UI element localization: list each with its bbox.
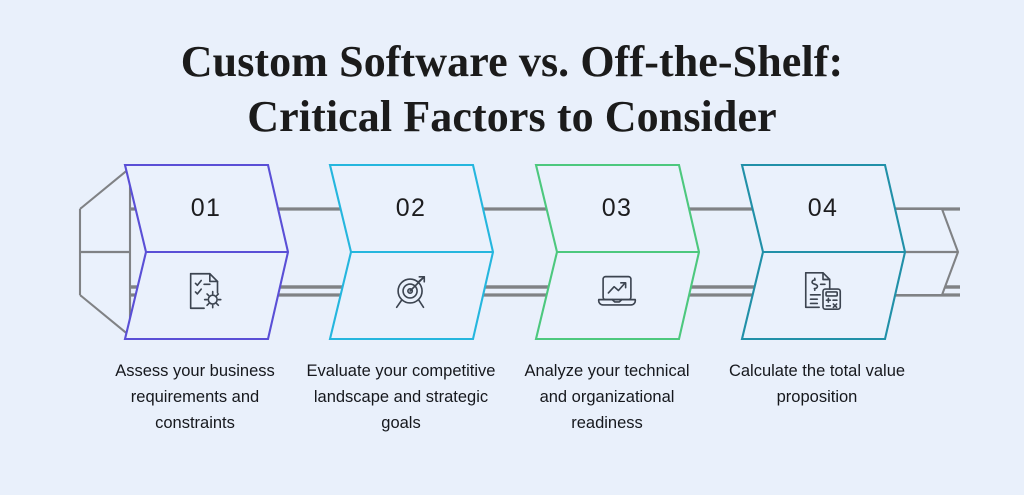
document-checklist-gear-icon: [183, 268, 229, 314]
invoice-calculator-icon: [800, 268, 846, 314]
right-end-cap: [888, 209, 958, 295]
page-title-line-1: Custom Software vs. Off-the-Shelf:: [0, 34, 1024, 89]
step-caption-4: Calculate the total value proposition: [722, 358, 912, 410]
step-number-3: 03: [557, 194, 677, 223]
step-caption-3: Analyze your technical and organizationa…: [512, 358, 702, 436]
page-title-line-2: Critical Factors to Consider: [0, 89, 1024, 144]
step-caption-1: Assess your business requirements and co…: [100, 358, 290, 436]
left-end-cap: [80, 168, 130, 336]
step-caption-2: Evaluate your competitive landscape and …: [306, 358, 496, 436]
page-title: Custom Software vs. Off-the-Shelf: Criti…: [0, 34, 1024, 145]
step-number-4: 04: [763, 194, 883, 223]
infographic-root: Custom Software vs. Off-the-Shelf: Criti…: [0, 0, 1024, 495]
target-arrow-icon: [389, 268, 435, 314]
step-number-2: 02: [351, 194, 471, 223]
step-number-1: 01: [146, 194, 266, 223]
laptop-growth-chart-icon: [594, 268, 640, 314]
